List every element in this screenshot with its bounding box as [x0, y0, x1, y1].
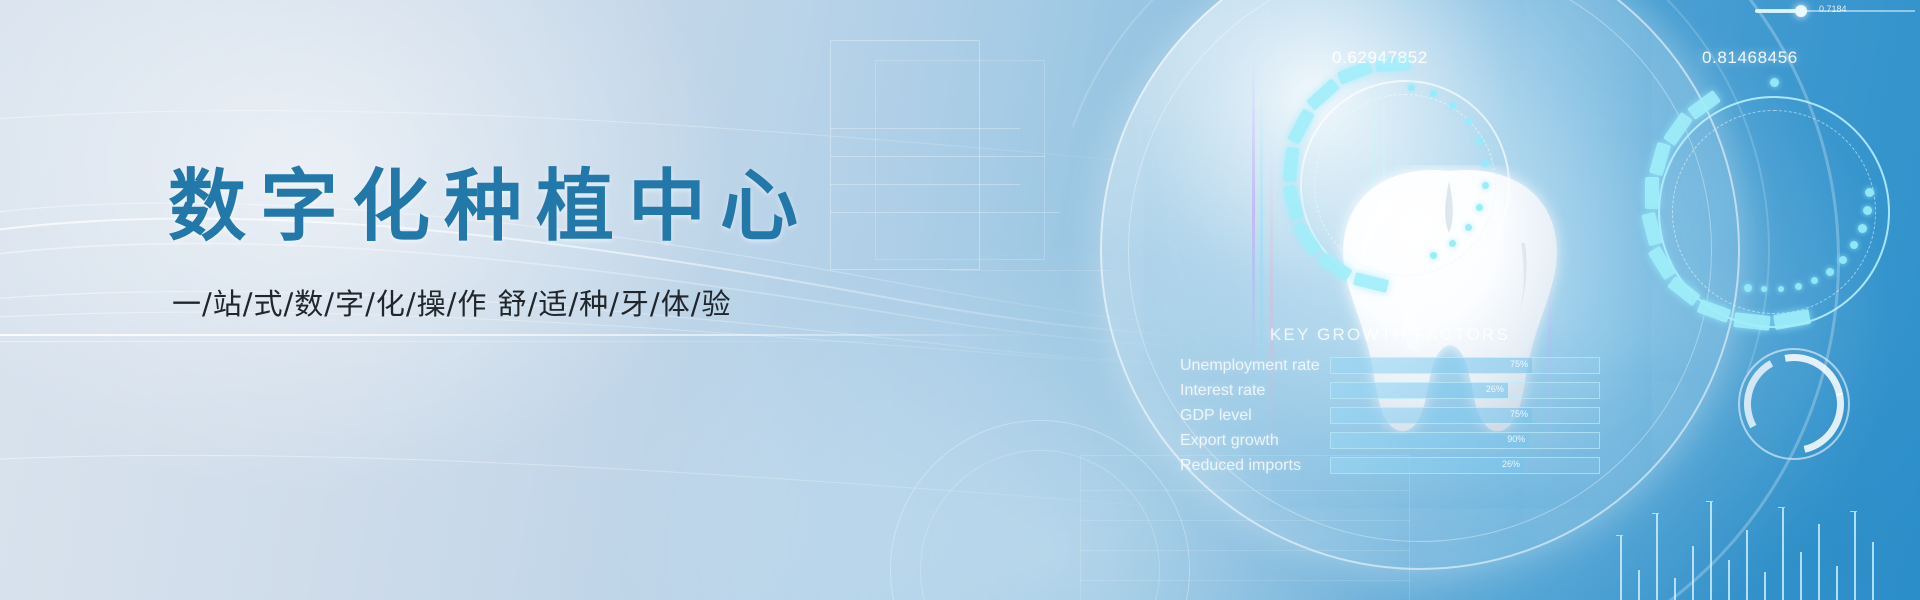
- chart-bar-fill: [1331, 408, 1532, 423]
- chart-bar-value: 75%: [1510, 409, 1532, 419]
- headline-block: 数字化种植中心: [168, 168, 812, 246]
- chart-bar-value: 90%: [1507, 434, 1529, 444]
- wireframe-hline-2: [830, 156, 1045, 157]
- chart-bar-fill: [1331, 358, 1532, 373]
- hud-slider-fill: [1755, 9, 1799, 13]
- chart-title: KEY GROWTH FACTORS: [1180, 325, 1600, 345]
- page-title: 数字化种植中心: [168, 168, 812, 246]
- chart-bar-track: 90%: [1330, 432, 1600, 449]
- hud-value-left: 0.62947852: [1332, 48, 1428, 68]
- chart-category-label: Reduced imports: [1180, 457, 1330, 475]
- chart-bar-value: 75%: [1510, 359, 1532, 369]
- tech-illustration-scene: 0.62947852: [1020, 0, 1920, 600]
- chart-category-label: GDP level: [1180, 407, 1330, 425]
- hud-value-right: 0.81468456: [1702, 48, 1798, 68]
- chart-category-label: Interest rate: [1180, 382, 1330, 400]
- hud-slider-knob[interactable]: [1795, 5, 1807, 17]
- chart-bar-track: 26%: [1330, 382, 1600, 399]
- chart-bar-fill: [1331, 458, 1524, 473]
- chart-bar-fill: [1331, 383, 1508, 398]
- wireframe-hline-1: [830, 128, 1020, 129]
- hud-ring-small: [1738, 348, 1850, 460]
- chart-category-label: Unemployment rate: [1180, 357, 1330, 375]
- wireframe-hline-3: [830, 184, 1020, 185]
- chart-bar-value: 26%: [1486, 384, 1508, 394]
- hud-slider-value: 0.7184: [1819, 4, 1847, 14]
- hud-ring-left: [1280, 60, 1530, 310]
- mini-bar-chart: [1610, 470, 1910, 600]
- wireframe-rect-2: [875, 60, 1045, 260]
- chart-row: GDP level 75%: [1180, 405, 1600, 426]
- chart-bar-value: 26%: [1502, 459, 1524, 469]
- headline-divider: [0, 334, 1040, 336]
- headline-divider-secondary: [0, 341, 1010, 342]
- hud-ring-right: [1640, 78, 1910, 348]
- chart-row: Export growth 90%: [1180, 430, 1600, 451]
- chart-bar-fill: [1331, 433, 1529, 448]
- chart-category-label: Export growth: [1180, 432, 1330, 450]
- glitch-streak-1: [1252, 60, 1255, 360]
- dental-hero-banner: 数字化种植中心 一/站/式/数/字/化/操/作 舒/适/种/牙/体/验: [0, 0, 1920, 600]
- key-growth-factors-chart: KEY GROWTH FACTORS Unemployment rate 75%…: [1180, 325, 1600, 480]
- page-subtitle: 一/站/式/数/字/化/操/作 舒/适/种/牙/体/验: [172, 281, 731, 323]
- hud-slider[interactable]: 0.7184: [1755, 8, 1915, 14]
- chart-row: Reduced imports 26%: [1180, 455, 1600, 476]
- wireframe-hline-4: [830, 212, 1060, 213]
- chart-bar-track: 26%: [1330, 457, 1600, 474]
- chart-row: Interest rate 26%: [1180, 380, 1600, 401]
- chart-bar-track: 75%: [1330, 407, 1600, 424]
- chart-row: Unemployment rate 75%: [1180, 355, 1600, 376]
- wireframe-hline-5: [950, 270, 1110, 271]
- chart-bar-track: 75%: [1330, 357, 1600, 374]
